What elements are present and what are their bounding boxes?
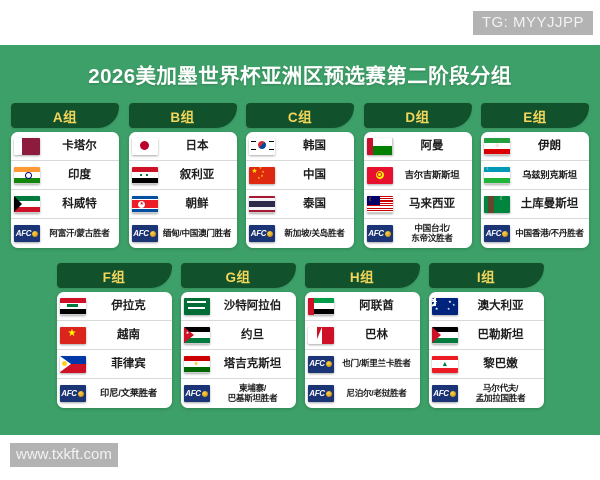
team-row[interactable]: 巴林 <box>305 321 420 350</box>
flag-icon-vietnam: ★ <box>60 327 86 344</box>
team-list: ♢伊朗 ☾乌兹别克斯坦 ☾土库曼斯坦AFC中国香港/不丹胜者 <box>481 132 589 248</box>
group-title: G组 <box>181 263 296 288</box>
team-row[interactable]: ▲黎巴嫩 <box>429 350 544 379</box>
group-card: H组 阿联酋 巴林AFC也门/斯里兰卡胜者AFC尼泊尔/老挝胜者 <box>305 263 420 408</box>
team-name: 阿富汗/蒙古胜者 <box>40 229 119 239</box>
flag-icon-jordan: ★ <box>184 327 210 344</box>
group-title: H组 <box>305 263 420 288</box>
flag-icon-china: ★ ★ ★ ★ ★ <box>249 167 275 184</box>
team-name: 朝鲜 <box>158 198 237 211</box>
team-name: 马尔代夫/ 孟加拉国胜者 <box>458 384 544 403</box>
group-title: E组 <box>481 103 589 128</box>
group-title: F组 <box>57 263 172 288</box>
team-row[interactable]: AFC尼泊尔/老挝胜者 <box>305 379 420 408</box>
team-name: 新加坡/关岛胜者 <box>275 229 354 239</box>
flag-icon-bahrain <box>308 327 334 344</box>
team-name: 澳大利亚 <box>458 300 544 313</box>
group-title: C组 <box>246 103 354 128</box>
team-name: 印度 <box>40 169 119 182</box>
group-title: A组 <box>11 103 119 128</box>
team-row[interactable]: AFC马尔代夫/ 孟加拉国胜者 <box>429 379 544 408</box>
flag-icon-palestine <box>432 327 458 344</box>
afc-logo-icon: AFC <box>432 385 458 402</box>
team-row[interactable]: 卡塔尔 <box>11 132 119 161</box>
team-row[interactable]: AFC中国香港/不丹胜者 <box>481 219 589 248</box>
team-row[interactable]: 菲律宾 <box>57 350 172 379</box>
team-name: 中国台北/ 东帝汶胜者 <box>393 224 472 243</box>
tournament-board: 2026美加墨世界杯亚洲区预选赛第二阶段分组 A组 卡塔尔 印度 科威特AFC阿… <box>0 45 600 435</box>
team-list: ★ ★ ★ ★澳大利亚 巴勒斯坦 ▲黎巴嫩AFC马尔代夫/ 孟加拉国胜者 <box>429 292 544 408</box>
team-name: 菲律宾 <box>86 358 172 371</box>
team-row[interactable]: ☾马来西亚 <box>364 190 472 219</box>
team-name: 中国 <box>275 169 354 182</box>
flag-icon-india <box>14 167 40 184</box>
group-card: F组 伊拉克 ★越南 菲律宾AFC印尼/文莱胜者 <box>57 263 172 408</box>
team-name: 阿联酋 <box>334 300 420 313</box>
flag-icon-malaysia: ☾ <box>367 196 393 213</box>
group-card: E组 ♢伊朗 ☾乌兹别克斯坦 <box>481 103 589 248</box>
team-row[interactable]: 泰国 <box>246 190 354 219</box>
team-row[interactable]: 伊拉克 <box>57 292 172 321</box>
team-name: 韩国 <box>275 140 354 153</box>
team-row[interactable]: 印度 <box>11 161 119 190</box>
team-row[interactable]: 叙利亚 <box>129 161 237 190</box>
team-row[interactable]: AFC新加坡/关岛胜者 <box>246 219 354 248</box>
team-name: 阿曼 <box>393 140 472 153</box>
afc-logo-icon: AFC <box>249 225 275 242</box>
team-list: 阿曼 吉尔吉斯斯坦 <box>364 132 472 248</box>
team-row[interactable]: ♛塔吉克斯坦 <box>181 350 296 379</box>
flag-icon-oman <box>367 138 393 155</box>
afc-logo-icon: AFC <box>132 225 158 242</box>
team-name: 中国香港/不丹胜者 <box>510 229 589 239</box>
team-row[interactable]: 韩国 <box>246 132 354 161</box>
afc-logo-icon: AFC <box>308 385 334 402</box>
team-row[interactable]: AFC阿富汗/蒙古胜者 <box>11 219 119 248</box>
team-name: 乌兹别克斯坦 <box>510 170 589 180</box>
team-name: 沙特阿拉伯 <box>210 300 296 313</box>
team-name: 泰国 <box>275 198 354 211</box>
team-row[interactable]: 沙特阿拉伯 <box>181 292 296 321</box>
team-row[interactable]: AFC中国台北/ 东帝汶胜者 <box>364 219 472 248</box>
afc-logo-icon: AFC <box>484 225 510 242</box>
team-name: 黎巴嫩 <box>458 358 544 371</box>
team-row[interactable]: 阿联酋 <box>305 292 420 321</box>
group-title: I组 <box>429 263 544 288</box>
flag-icon-australia: ★ ★ ★ ★ <box>432 298 458 315</box>
team-row[interactable]: ♢伊朗 <box>481 132 589 161</box>
team-name: 日本 <box>158 140 237 153</box>
page-title: 2026美加墨世界杯亚洲区预选赛第二阶段分组 <box>0 59 600 89</box>
group-title: B组 <box>129 103 237 128</box>
afc-logo-icon: AFC <box>14 225 40 242</box>
team-list: 韩国 ★ ★ ★ ★ ★中国 泰国AFC新加坡/关岛胜者 <box>246 132 354 248</box>
team-row[interactable]: ★越南 <box>57 321 172 350</box>
group-title: D组 <box>364 103 472 128</box>
group-card: A组 卡塔尔 印度 科威特AFC阿富汗/蒙古胜者 <box>11 103 119 248</box>
flag-icon-saudi-arabia <box>184 298 210 315</box>
team-name: 越南 <box>86 329 172 342</box>
afc-logo-icon: AFC <box>308 356 334 373</box>
team-name: 卡塔尔 <box>40 140 119 153</box>
group-card: I组 ★ ★ ★ ★澳大利亚 <box>429 263 544 408</box>
team-row[interactable]: ☾土库曼斯坦 <box>481 190 589 219</box>
flag-icon-qatar <box>14 138 40 155</box>
afc-logo-icon: AFC <box>184 385 210 402</box>
team-list: 阿联酋 巴林AFC也门/斯里兰卡胜者AFC尼泊尔/老挝胜者 <box>305 292 420 408</box>
team-row[interactable]: 阿曼 <box>364 132 472 161</box>
team-name: 马来西亚 <box>393 198 472 211</box>
group-row-bottom: F组 伊拉克 ★越南 菲律宾AFC印尼/文莱胜者G组 沙特阿拉伯 <box>0 263 600 408</box>
flag-icon-kuwait <box>14 196 40 213</box>
flag-icon-uzbekistan: ☾ <box>484 167 510 184</box>
team-row[interactable]: 吉尔吉斯斯坦 <box>364 161 472 190</box>
team-row[interactable]: AFC柬埔寨/ 巴基斯坦胜者 <box>181 379 296 408</box>
team-row[interactable]: ★约旦 <box>181 321 296 350</box>
telegram-watermark: TG: MYYJJPP <box>473 11 593 35</box>
team-list: 伊拉克 ★越南 菲律宾AFC印尼/文莱胜者 <box>57 292 172 408</box>
team-list: 卡塔尔 印度 科威特AFC阿富汗/蒙古胜者 <box>11 132 119 248</box>
team-row[interactable]: 日本 <box>129 132 237 161</box>
team-name: 柬埔寨/ 巴基斯坦胜者 <box>210 384 296 403</box>
team-name: 巴勒斯坦 <box>458 329 544 342</box>
flag-icon-thailand <box>249 196 275 213</box>
team-name: 缅甸/中国澳门胜者 <box>158 229 237 239</box>
team-name: 吉尔吉斯斯坦 <box>393 170 472 180</box>
team-name: 伊朗 <box>510 140 589 153</box>
flag-icon-syria <box>132 167 158 184</box>
team-row[interactable]: AFC印尼/文莱胜者 <box>57 379 172 408</box>
flag-icon-lebanon: ▲ <box>432 356 458 373</box>
team-row[interactable]: 科威特 <box>11 190 119 219</box>
flag-icon-japan <box>132 138 158 155</box>
team-name: 约旦 <box>210 329 296 342</box>
team-row[interactable]: ★ ★ ★ ★ ★中国 <box>246 161 354 190</box>
team-list: 沙特阿拉伯 ★约旦 ♛塔吉克斯坦AFC柬埔寨/ 巴基斯坦胜者 <box>181 292 296 408</box>
team-name: 叙利亚 <box>158 169 237 182</box>
group-card: B组 日本 叙利亚 <box>129 103 237 248</box>
team-name: 尼泊尔/老挝胜者 <box>334 389 420 399</box>
team-name: 科威特 <box>40 198 119 211</box>
team-row[interactable]: AFC缅甸/中国澳门胜者 <box>129 219 237 248</box>
flag-icon-iran: ♢ <box>484 138 510 155</box>
site-watermark: www.txkft.com <box>10 443 118 467</box>
flag-icon-iraq <box>60 298 86 315</box>
group-card: G组 沙特阿拉伯 ★约旦 ♛塔吉克斯坦AFC柬埔寨/ 巴基斯坦胜者 <box>181 263 296 408</box>
afc-logo-icon: AFC <box>367 225 393 242</box>
team-row[interactable]: 巴勒斯坦 <box>429 321 544 350</box>
team-name: 巴林 <box>334 329 420 342</box>
team-name: 印尼/文莱胜者 <box>86 388 172 398</box>
group-card: D组 阿曼 吉尔吉斯斯坦 <box>364 103 472 248</box>
team-row[interactable]: AFC也门/斯里兰卡胜者 <box>305 350 420 379</box>
flag-icon-turkmenistan: ☾ <box>484 196 510 213</box>
flag-icon-philippines <box>60 356 86 373</box>
flag-icon-tajikistan: ♛ <box>184 356 210 373</box>
team-row[interactable]: ★ ★ ★ ★澳大利亚 <box>429 292 544 321</box>
flag-icon-uae <box>308 298 334 315</box>
afc-logo-icon: AFC <box>60 385 86 402</box>
group-card: C组 韩国 ★ ★ ★ ★ ★中国 <box>246 103 354 248</box>
group-row-top: A组 卡塔尔 印度 科威特AFC阿富汗/蒙古胜者B组 日本 <box>0 103 600 248</box>
team-name: 伊拉克 <box>86 300 172 313</box>
team-row[interactable]: ★朝鲜 <box>129 190 237 219</box>
team-list: 日本 叙利亚 ★朝鲜AFC缅甸/ <box>129 132 237 248</box>
team-name: 土库曼斯坦 <box>510 198 589 211</box>
flag-icon-kyrgyzstan <box>367 167 393 184</box>
team-row[interactable]: ☾乌兹别克斯坦 <box>481 161 589 190</box>
team-name: 塔吉克斯坦 <box>210 358 296 371</box>
flag-icon-north-korea: ★ <box>132 196 158 213</box>
flag-icon-south-korea <box>249 138 275 155</box>
team-name: 也门/斯里兰卡胜者 <box>334 359 420 369</box>
